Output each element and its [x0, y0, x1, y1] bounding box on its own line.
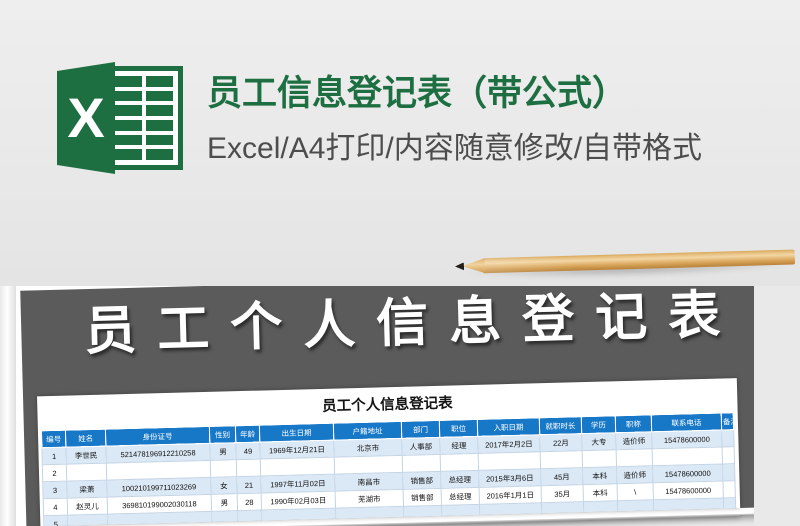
table-cell [238, 510, 262, 526]
column-header: 姓名 [65, 429, 105, 447]
spreadsheet-preview: 员工个人信息登记表 编号姓名身份证号性别年龄出生日期户籍地址部门职位入职日期就职… [37, 378, 740, 526]
table-cell: 2015年3月6日 [479, 469, 541, 488]
column-header: 性别 [209, 426, 235, 444]
preview-section: 员工个人信息登记表 员工个人信息登记表 编号姓名身份证号性别年龄出生日期户籍地址… [0, 286, 800, 526]
row-number-cell: 1 [42, 447, 66, 465]
page-title: 员工信息登记表（带公式） [207, 72, 627, 116]
table-cell [478, 452, 540, 471]
card-white-frame: 员工个人信息登记表 员工个人信息登记表 编号姓名身份证号性别年龄出生日期户籍地址… [0, 286, 778, 526]
table-cell: 梁萧 [67, 480, 107, 498]
table-cell: 大专 [582, 433, 616, 451]
table-cell: 总经理 [441, 487, 479, 505]
table-cell [236, 459, 260, 477]
column-header: 职位 [439, 419, 477, 437]
table-cell: 销售部 [403, 471, 441, 489]
table-cell [541, 502, 583, 520]
column-header: 备注 [721, 413, 733, 430]
excel-x-letter: X [57, 62, 115, 174]
table-cell: 1997年11月02日 [261, 474, 335, 493]
table-cell [723, 464, 735, 481]
table-cell: 22月 [540, 434, 582, 452]
table-cell [336, 506, 404, 525]
excel-logo: X [57, 62, 183, 174]
table-cell: 1990年02月03日 [261, 491, 335, 510]
table-cell: 人事部 [402, 437, 440, 455]
row-number-cell: 3 [43, 481, 67, 499]
column-header: 部门 [401, 420, 439, 438]
table-cell: 总经理 [441, 470, 479, 488]
column-header: 户籍地址 [333, 421, 401, 440]
table-cell: 本科 [583, 484, 617, 502]
table-cell: 男 [211, 494, 237, 512]
page-subtitle: Excel/A4打印/内容随意修改/自带格式 [207, 129, 702, 169]
table-cell [68, 514, 108, 526]
table-cell [616, 449, 652, 467]
table-cell [402, 454, 440, 472]
table-cell: 15478600000 [653, 464, 723, 483]
table-cell [66, 463, 106, 481]
table-cell [582, 450, 616, 468]
table-cell: 南昌市 [335, 472, 403, 491]
column-header: 入职日期 [477, 418, 539, 437]
column-header: 出生日期 [259, 423, 333, 442]
tilted-card: 员工个人信息登记表 员工个人信息登记表 编号姓名身份证号性别年龄出生日期户籍地址… [0, 286, 780, 526]
table-cell: 35月 [541, 485, 583, 503]
column-header: 联系电话 [651, 413, 721, 432]
table-cell [617, 500, 653, 518]
table-cell: 赵灵儿 [67, 497, 107, 515]
table-cell: 15478600000 [653, 481, 723, 500]
table-cell: 49 [236, 442, 260, 460]
table-cell [583, 501, 617, 519]
table-cell: 北京市 [334, 438, 402, 457]
table-cell: 45月 [541, 468, 583, 486]
table-cell [404, 505, 442, 523]
table-cell [722, 430, 734, 447]
table-cell: 销售部 [403, 488, 441, 506]
row-number-cell: 2 [42, 464, 66, 482]
table-cell [479, 503, 541, 522]
table-cell: 女 [211, 477, 237, 495]
employee-table: 编号姓名身份证号性别年龄出生日期户籍地址部门职位入职日期就职时长学历职称联系电话… [41, 412, 736, 526]
table-cell [262, 508, 336, 526]
table-cell: 15478600000 [652, 430, 722, 449]
column-header: 就职时长 [539, 417, 581, 435]
table-body: 1李世民521478196912210258男491969年12月21日北京市人… [42, 430, 736, 526]
card-right-gap [754, 286, 800, 526]
table-cell: 2016年1月1日 [479, 486, 541, 505]
column-header: 学历 [581, 416, 615, 434]
table-cell [652, 447, 722, 466]
pencil-icon [455, 249, 795, 276]
column-header: 年龄 [235, 425, 259, 443]
row-number-cell: 5 [44, 515, 68, 526]
table-cell [260, 457, 334, 476]
card-left-edge [0, 286, 16, 526]
table-cell [442, 504, 480, 522]
column-header: 编号 [41, 430, 65, 448]
row-number-cell: 4 [43, 498, 67, 516]
table-cell [210, 460, 236, 478]
table-cell [723, 481, 735, 498]
table-cell [212, 511, 238, 526]
table-cell [334, 455, 402, 474]
table-cell: \ [617, 483, 653, 501]
table-cell [540, 451, 582, 469]
table-cell: 1969年12月21日 [260, 440, 334, 459]
table-cell [653, 498, 723, 517]
table-cell: 28 [237, 493, 261, 511]
table-cell: 2017年2月2日 [478, 435, 540, 454]
hero-banner: X 员工信息登记表（带公式） Excel/A4打印/内容随意修改/自带格式 [0, 0, 800, 286]
column-header: 职称 [615, 415, 651, 433]
table-cell [108, 511, 212, 526]
table-cell: 造价师 [616, 432, 652, 450]
table-cell [722, 447, 734, 464]
table-cell: 21 [237, 476, 261, 494]
table-cell: 造价师 [617, 466, 653, 484]
pencil-graphite-tip [455, 262, 464, 270]
table-cell: 经理 [440, 436, 478, 454]
table-cell: 芜湖市 [335, 489, 403, 508]
table-cell [723, 498, 735, 515]
table-cell [440, 453, 478, 471]
table-cell: 本科 [583, 467, 617, 485]
table-cell: 李世民 [66, 446, 106, 464]
table-cell: 男 [210, 443, 236, 461]
excel-grid-cells [115, 76, 173, 160]
